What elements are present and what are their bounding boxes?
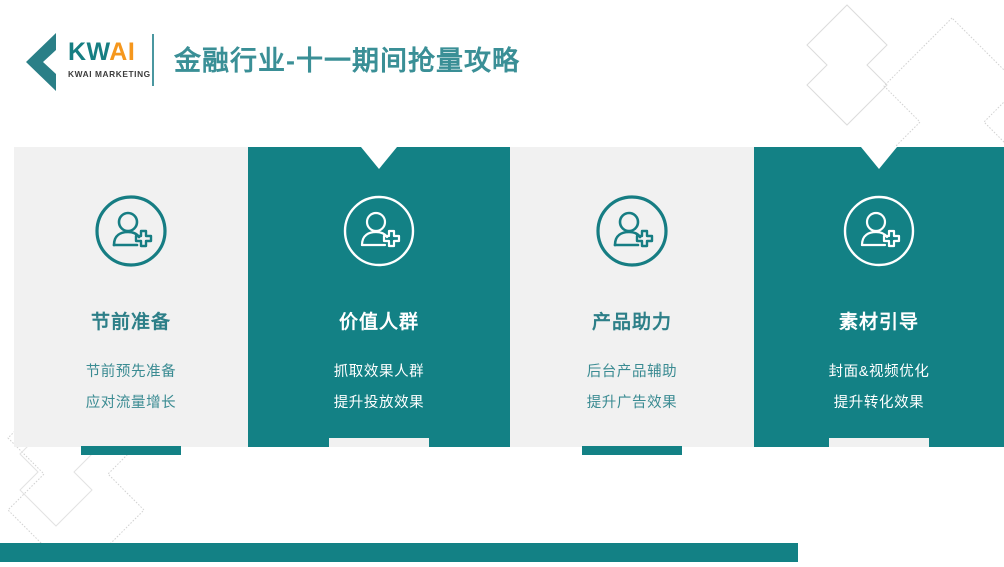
card-accent-bar: [829, 438, 929, 447]
header-divider: [152, 34, 154, 86]
card-description: 后台产品辅助 提升广告效果: [510, 357, 754, 419]
card-surface: 产品助力 后台产品辅助 提升广告效果: [510, 147, 754, 447]
card-description-line: 提升广告效果: [510, 388, 754, 419]
card-title: 产品助力: [510, 307, 754, 334]
brand-wordmark-ai: AI: [109, 38, 135, 66]
brand-tagline: KWAI MARKETING: [68, 69, 158, 79]
card-description: 封面&视频优化 提升转化效果: [754, 357, 1004, 419]
card-pre-holiday-prep[interactable]: 节前准备 节前预先准备 应对流量增长: [14, 147, 248, 447]
add-user-circle-icon: [93, 193, 169, 269]
add-user-circle-icon: [841, 193, 917, 269]
card-product-boost[interactable]: 产品助力 后台产品辅助 提升广告效果: [510, 147, 754, 447]
card-title: 价值人群: [248, 307, 510, 334]
card-accent-bar: [81, 446, 181, 455]
card-description-line: 提升投放效果: [248, 388, 510, 419]
brand-logo[interactable]: KWAI KWAI MARKETING: [14, 28, 154, 94]
card-accent-bar: [582, 446, 682, 455]
card-description-line: 节前预先准备: [14, 357, 248, 388]
kwai-chevron-logo-icon: [14, 32, 72, 92]
add-user-circle-icon: [594, 193, 670, 269]
card-description: 节前预先准备 应对流量增长: [14, 357, 248, 419]
card-title: 节前准备: [14, 307, 248, 334]
add-user-circle-icon: [341, 193, 417, 269]
card-notch-triangle: [361, 147, 397, 169]
card-description-line: 提升转化效果: [754, 388, 1004, 419]
card-title: 素材引导: [754, 307, 1004, 334]
card-surface: 节前准备 节前预先准备 应对流量增长: [14, 147, 248, 447]
card-description-line: 应对流量增长: [14, 388, 248, 419]
card-description-line: 抓取效果人群: [248, 357, 510, 388]
card-surface: 素材引导 封面&视频优化 提升转化效果: [754, 147, 1004, 447]
card-notch-triangle: [861, 147, 897, 169]
footer-bar: [0, 543, 798, 562]
card-description-line: 封面&视频优化: [754, 357, 1004, 388]
card-creative-guidance[interactable]: 素材引导 封面&视频优化 提升转化效果: [754, 147, 1004, 447]
card-surface: 价值人群 抓取效果人群 提升投放效果: [248, 147, 510, 447]
card-description: 抓取效果人群 提升投放效果: [248, 357, 510, 419]
card-value-audience[interactable]: 价值人群 抓取效果人群 提升投放效果: [248, 147, 510, 447]
brand-wordmark: KWAI: [68, 40, 160, 65]
brand-logo-text: KWAI KWAI MARKETING: [68, 40, 160, 79]
page-header: KWAI KWAI MARKETING 金融行业-十一期间抢量攻略: [0, 0, 1004, 120]
card-row: 节前准备 节前预先准备 应对流量增长 价值人群 抓取效果人群: [0, 147, 1004, 447]
page-title: 金融行业-十一期间抢量攻略: [174, 39, 520, 78]
card-description-line: 后台产品辅助: [510, 357, 754, 388]
card-accent-bar: [329, 438, 429, 447]
brand-wordmark-kw: KW: [68, 38, 109, 66]
